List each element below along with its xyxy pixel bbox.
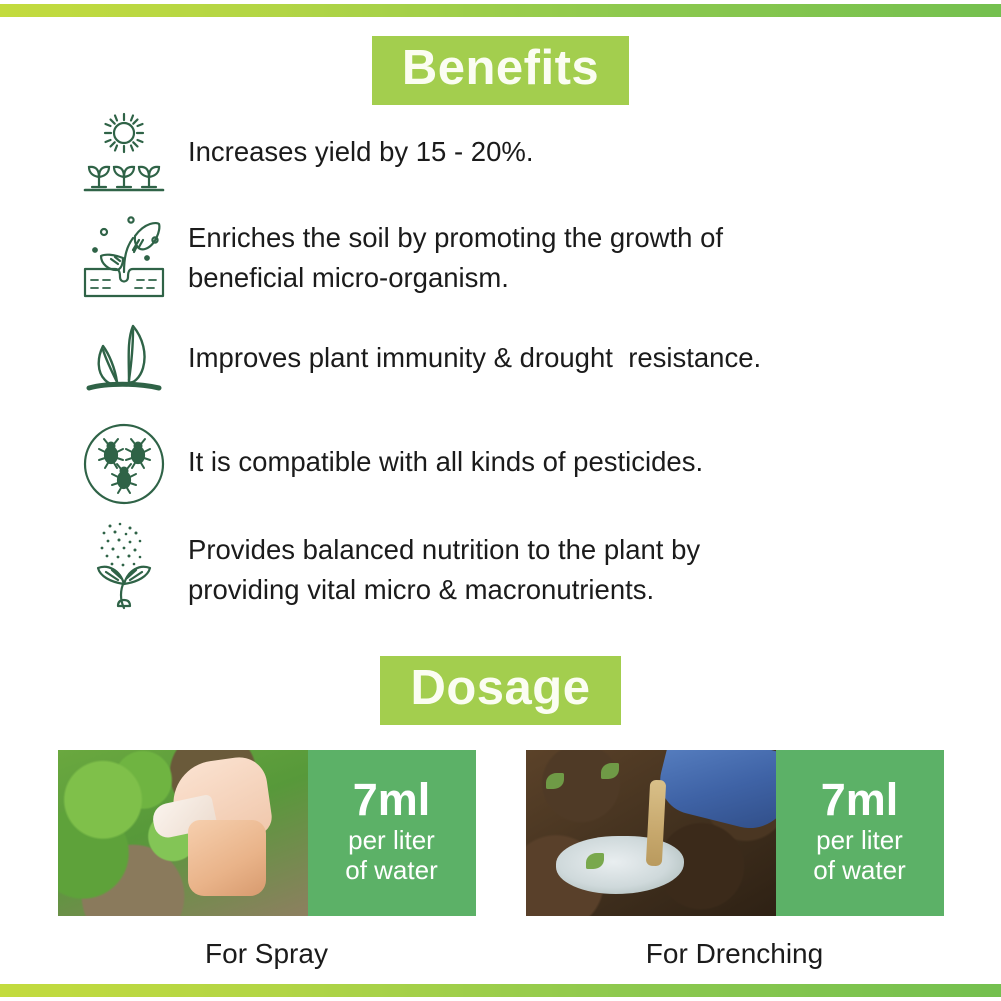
sprinkle-over-sprout-icon bbox=[76, 522, 172, 610]
benefits-heading-container: Benefits bbox=[0, 36, 1001, 105]
benefit-text: Enriches the soil by promoting the growt… bbox=[172, 210, 723, 298]
dosage-unit-line-2: of water bbox=[813, 856, 906, 885]
benefit-text: Increases yield by 15 - 20%. bbox=[172, 108, 533, 172]
dosage-media: 7ml per liter of water bbox=[526, 750, 944, 916]
benefits-list: Increases yield by 15 - 20%. bbox=[76, 108, 946, 620]
benefits-heading: Benefits bbox=[372, 36, 629, 105]
dosage-unit-line-2: of water bbox=[345, 856, 438, 885]
dosage-unit-line-1: per liter bbox=[348, 826, 435, 855]
seedling-shape bbox=[546, 773, 564, 789]
water-puddle-shape bbox=[556, 836, 684, 894]
dosage-amount-panel: 7ml per liter of water bbox=[776, 750, 944, 916]
spray-bottle-shape bbox=[188, 820, 266, 896]
benefit-item: Enriches the soil by promoting the growt… bbox=[76, 210, 946, 298]
dosage-amount: 7ml bbox=[821, 777, 899, 822]
benefit-item: Increases yield by 15 - 20%. bbox=[76, 108, 946, 196]
dosage-caption: For Drenching bbox=[526, 938, 944, 970]
dosage-media: 7ml per liter of water bbox=[58, 750, 476, 916]
insects-in-circle-icon bbox=[76, 420, 172, 508]
dosage-card-drenching: 7ml per liter of water For Drenching bbox=[526, 750, 944, 970]
dosage-amount: 7ml bbox=[353, 777, 431, 822]
bottom-accent-stripe bbox=[0, 984, 1001, 997]
dosage-heading-container: Dosage bbox=[0, 656, 1001, 725]
benefit-text: It is compatible with all kinds of pesti… bbox=[172, 420, 703, 482]
watering-can-shape bbox=[653, 750, 776, 837]
benefit-item: It is compatible with all kinds of pesti… bbox=[76, 420, 946, 508]
two-leaves-icon bbox=[76, 316, 172, 404]
dosage-cards: 7ml per liter of water For Spray 7ml per… bbox=[0, 750, 1001, 970]
dosage-amount-panel: 7ml per liter of water bbox=[308, 750, 476, 916]
sun-over-seedlings-icon bbox=[76, 108, 172, 196]
dosage-heading: Dosage bbox=[380, 656, 620, 725]
seedling-shape bbox=[601, 763, 619, 779]
benefit-item: Improves plant immunity & drought resist… bbox=[76, 316, 946, 404]
watering-can-drenching-soil-photo bbox=[526, 750, 776, 916]
benefit-text: Provides balanced nutrition to the plant… bbox=[172, 522, 700, 610]
benefit-item: Provides balanced nutrition to the plant… bbox=[76, 522, 946, 610]
dosage-unit-line-1: per liter bbox=[816, 826, 903, 855]
dosage-caption: For Spray bbox=[58, 938, 476, 970]
hand-spraying-plants-photo bbox=[58, 750, 308, 916]
benefit-text: Improves plant immunity & drought resist… bbox=[172, 316, 761, 378]
dosage-card-spray: 7ml per liter of water For Spray bbox=[58, 750, 476, 970]
top-accent-stripe bbox=[0, 4, 1001, 17]
plant-in-soil-microorganism-icon bbox=[76, 210, 172, 298]
